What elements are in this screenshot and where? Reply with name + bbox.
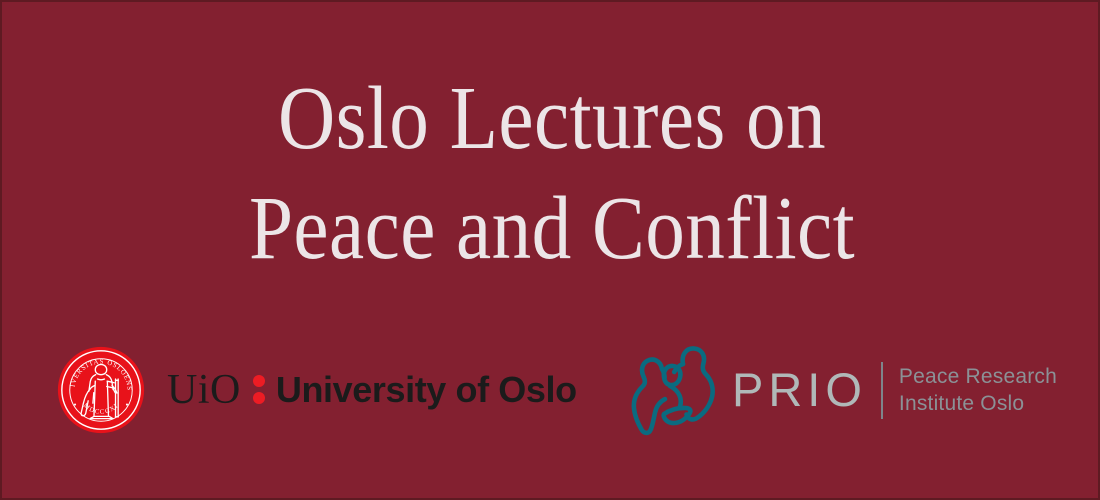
page-title: Oslo Lectures on Peace and Conflict — [2, 64, 1100, 284]
conference-banner: Oslo Lectures on Peace and Conflict UNIV… — [0, 0, 1100, 500]
uio-abbreviation: UiO — [167, 369, 241, 411]
title-line-2: Peace and Conflict — [68, 174, 1036, 284]
prio-logo[interactable]: PRIO Peace Research Institute Oslo — [626, 342, 1057, 438]
red-dot-upper — [253, 375, 265, 387]
red-dot-lower — [253, 392, 265, 404]
prio-tagline: Peace Research Institute Oslo — [899, 363, 1057, 417]
prio-tagline-line-1: Peace Research — [899, 363, 1057, 390]
uio-logo[interactable]: UNIVERSITAS OSLOENSIS MDCCCXI — [57, 344, 577, 436]
uio-seal-icon: UNIVERSITAS OSLOENSIS MDCCCXI — [57, 346, 145, 434]
prio-two-figures-icon — [626, 342, 718, 438]
prio-wordmark: PRIO — [732, 366, 867, 415]
logo-row: UNIVERSITAS OSLOENSIS MDCCCXI — [2, 338, 1100, 442]
title-line-1: Oslo Lectures on — [68, 64, 1036, 174]
uio-wordmark: UiO University of Oslo — [167, 346, 577, 434]
vertical-divider-icon — [881, 362, 883, 419]
two-red-dots-icon — [253, 375, 265, 406]
prio-tagline-line-2: Institute Oslo — [899, 390, 1057, 417]
uio-full-name: University of Oslo — [276, 372, 577, 408]
